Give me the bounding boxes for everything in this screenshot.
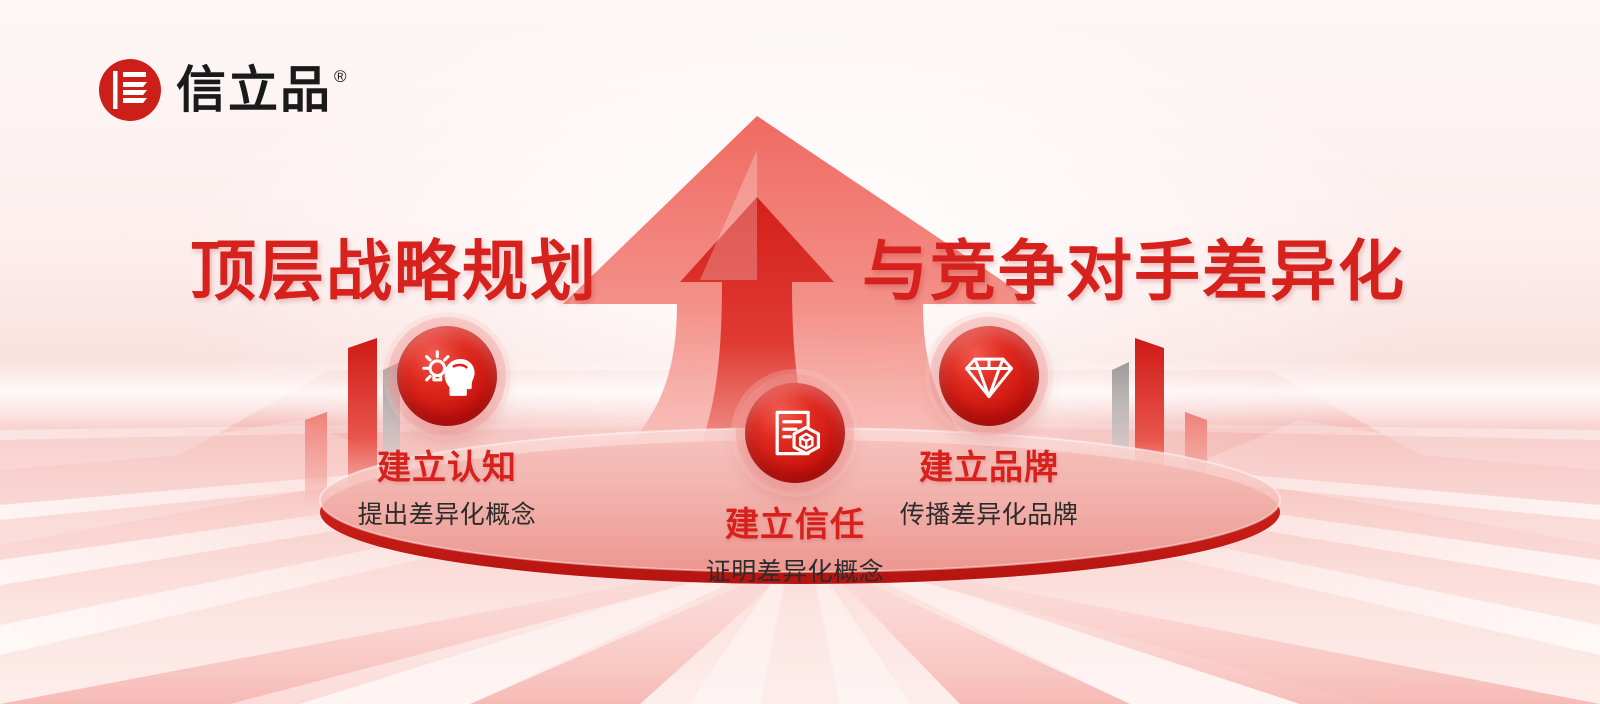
poster-canvas: 信立品 ® 顶层战略规划 与竞争对手差异化 建立认知 提出差异 bbox=[0, 0, 1600, 704]
document-cube-icon bbox=[745, 383, 845, 483]
pillar-subtitle: 证明差异化概念 bbox=[645, 552, 945, 588]
brand-name: 信立品 bbox=[176, 65, 332, 115]
headline-right: 与竞争对手差异化 bbox=[862, 218, 1406, 314]
headline-left: 顶层战略规划 bbox=[190, 218, 598, 314]
brand-logo[interactable]: 信立品 ® bbox=[98, 58, 347, 122]
pillar-title: 建立品牌 bbox=[839, 440, 1139, 489]
brand-wordmark: 信立品 ® bbox=[176, 65, 347, 115]
diamond-icon bbox=[939, 326, 1039, 426]
pillar-title: 建立认知 bbox=[297, 440, 597, 489]
trademark-symbol: ® bbox=[334, 67, 347, 87]
pillar-cognition[interactable]: 建立认知 提出差异化概念 bbox=[297, 326, 597, 531]
xin-seal-icon bbox=[98, 58, 162, 122]
pillar-brand[interactable]: 建立品牌 传播差异化品牌 bbox=[839, 326, 1139, 531]
pillar-subtitle: 提出差异化概念 bbox=[297, 495, 597, 531]
head-lightbulb-icon bbox=[397, 326, 497, 426]
pillar-subtitle: 传播差异化品牌 bbox=[839, 495, 1139, 531]
